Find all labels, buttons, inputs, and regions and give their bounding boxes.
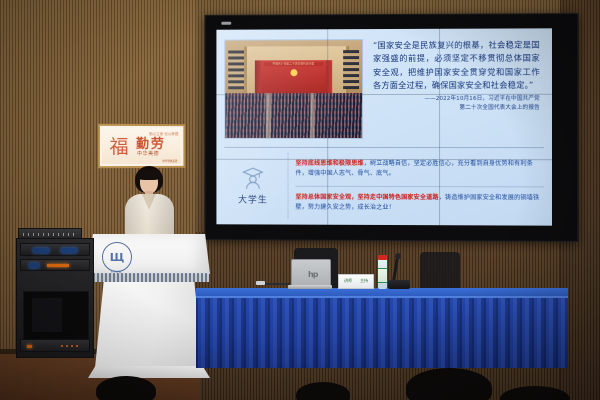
bullet-list: 坚持底线思维和极限思维，树立战略自信，坚定必胜信心，充分看到自身优势和有利条件，… xyxy=(288,153,544,220)
poster-side-text: 勤以立身 俭以养德 xyxy=(149,132,178,137)
audience-category: 大学生 xyxy=(224,153,281,219)
cable xyxy=(262,283,290,285)
placard-text-left: 讲师 xyxy=(344,278,352,284)
slide-content: 中国共产党第二十次全国代表大会 “国家安全是民族复兴的根基，社会稳定是国家强盛的… xyxy=(216,28,552,225)
presenter xyxy=(119,166,181,244)
slide-upper-section: 中国共产党第二十次全国代表大会 “国家安全是民族复兴的根基，社会稳定是国家强盛的… xyxy=(224,34,544,147)
hall-delegate-seating xyxy=(225,93,362,138)
desk-object xyxy=(256,281,265,285)
placard-text-right: 主持 xyxy=(360,278,368,284)
graduate-student-icon xyxy=(240,166,266,190)
quote-source-line-1: ——2022年10月16日，习近平在中国共产党 xyxy=(373,95,540,104)
hall-side-left xyxy=(228,50,244,89)
water-bottle-label xyxy=(378,268,387,283)
head-table-skirt xyxy=(196,298,568,368)
microphone-head-icon xyxy=(395,253,401,259)
lectern-top: Щ 大学校徽 xyxy=(88,234,210,274)
rack-power-unit[interactable] xyxy=(20,339,90,352)
chair xyxy=(420,252,460,290)
bullet-item: 坚持总体国家安全观，坚持走中国特色国家安全道路，铸造维护国家安全和发展的铜墙铁壁… xyxy=(295,192,543,213)
poster-seal-icon: 福 xyxy=(107,134,131,160)
framed-poster: 福 勤劳 中华美德 勤以立身 俭以养德 中华传统美德 xyxy=(98,124,185,168)
lectern: Щ 大学校徽 xyxy=(88,234,210,384)
laptop-lid: hp xyxy=(291,259,331,288)
bullet-item: 坚持底线思维和极限思维，树立战略自信，坚定必胜信心，充分看到自身优势和有利条件，… xyxy=(295,159,543,180)
hall-aisle-right xyxy=(310,93,314,138)
laptop-base xyxy=(288,285,332,289)
rack-amplifier[interactable] xyxy=(20,243,90,256)
poster-subtitle: 中华美德 xyxy=(137,150,159,157)
laptop-brand-logo: hp xyxy=(308,270,317,279)
lectern-base xyxy=(95,282,203,368)
presenter-fringe xyxy=(137,169,161,180)
seal-glyph: Щ xyxy=(110,252,125,263)
university-seal-icon: Щ xyxy=(102,242,132,272)
poster-footer: 中华传统美德 xyxy=(162,159,177,163)
water-bottle-cap xyxy=(378,255,387,260)
hall-side-right xyxy=(343,50,359,89)
bullet-emphasis: 坚持总体国家安全观，坚持走中国特色国家安全道路 xyxy=(295,193,438,200)
quote-block: “国家安全是民族复兴的根基，社会稳定是国家强盛的前提，必须坚定不移贯彻总体国家安… xyxy=(371,34,544,147)
bullet-emphasis: 坚持底线思维和极限思维 xyxy=(295,160,363,167)
quote-text: “国家安全是民族复兴的根基，社会稳定是国家强盛的前提，必须坚定不移贯彻总体国家安… xyxy=(373,38,540,92)
congress-photo: 中国共产党第二十次全国代表大会 xyxy=(224,39,363,139)
lecture-hall-photo: 福 勤劳 中华美德 勤以立身 俭以养德 中华传统美德 xyxy=(0,0,600,400)
audience-head xyxy=(96,376,156,400)
bullet-separator xyxy=(295,185,543,187)
presentation-screen: 中国共产党第二十次全国代表大会 “国家安全是民族复兴的根基，社会稳定是国家强盛的… xyxy=(216,28,552,225)
slide-divider xyxy=(224,147,544,148)
quote-source-line-2: 第二十次全国代表大会上的报告 xyxy=(373,104,540,113)
lectern-trim-band xyxy=(89,273,209,282)
lectern-foot xyxy=(88,366,210,378)
quote-source: ——2022年10月16日，习近平在中国共产党 第二十次全国代表大会上的报告 xyxy=(373,95,540,113)
led-video-wall: 中国共产党第二十次全国代表大会 “国家安全是民族复兴的根基，社会稳定是国家强盛的… xyxy=(205,13,579,242)
av-equipment-rack[interactable] xyxy=(16,238,94,358)
screen-seam xyxy=(439,29,440,225)
hall-aisle-left xyxy=(266,93,270,138)
audience-label: 大学生 xyxy=(238,193,268,206)
hall-banner-text: 中国共产党第二十次全国代表大会 xyxy=(263,62,323,67)
microphone-base xyxy=(388,280,410,289)
rack-processor[interactable] xyxy=(20,259,90,271)
screen-seam xyxy=(327,29,328,224)
name-placard: 讲师 主持 xyxy=(338,274,374,289)
laptop[interactable]: hp xyxy=(288,259,332,289)
slide-lower-section: 大学生 坚持底线思维和极限思维，树立战略自信，坚定必胜信心，充分看到自身优势和有… xyxy=(224,153,544,220)
audience-head xyxy=(406,368,492,400)
rack-open-bay xyxy=(23,291,89,341)
